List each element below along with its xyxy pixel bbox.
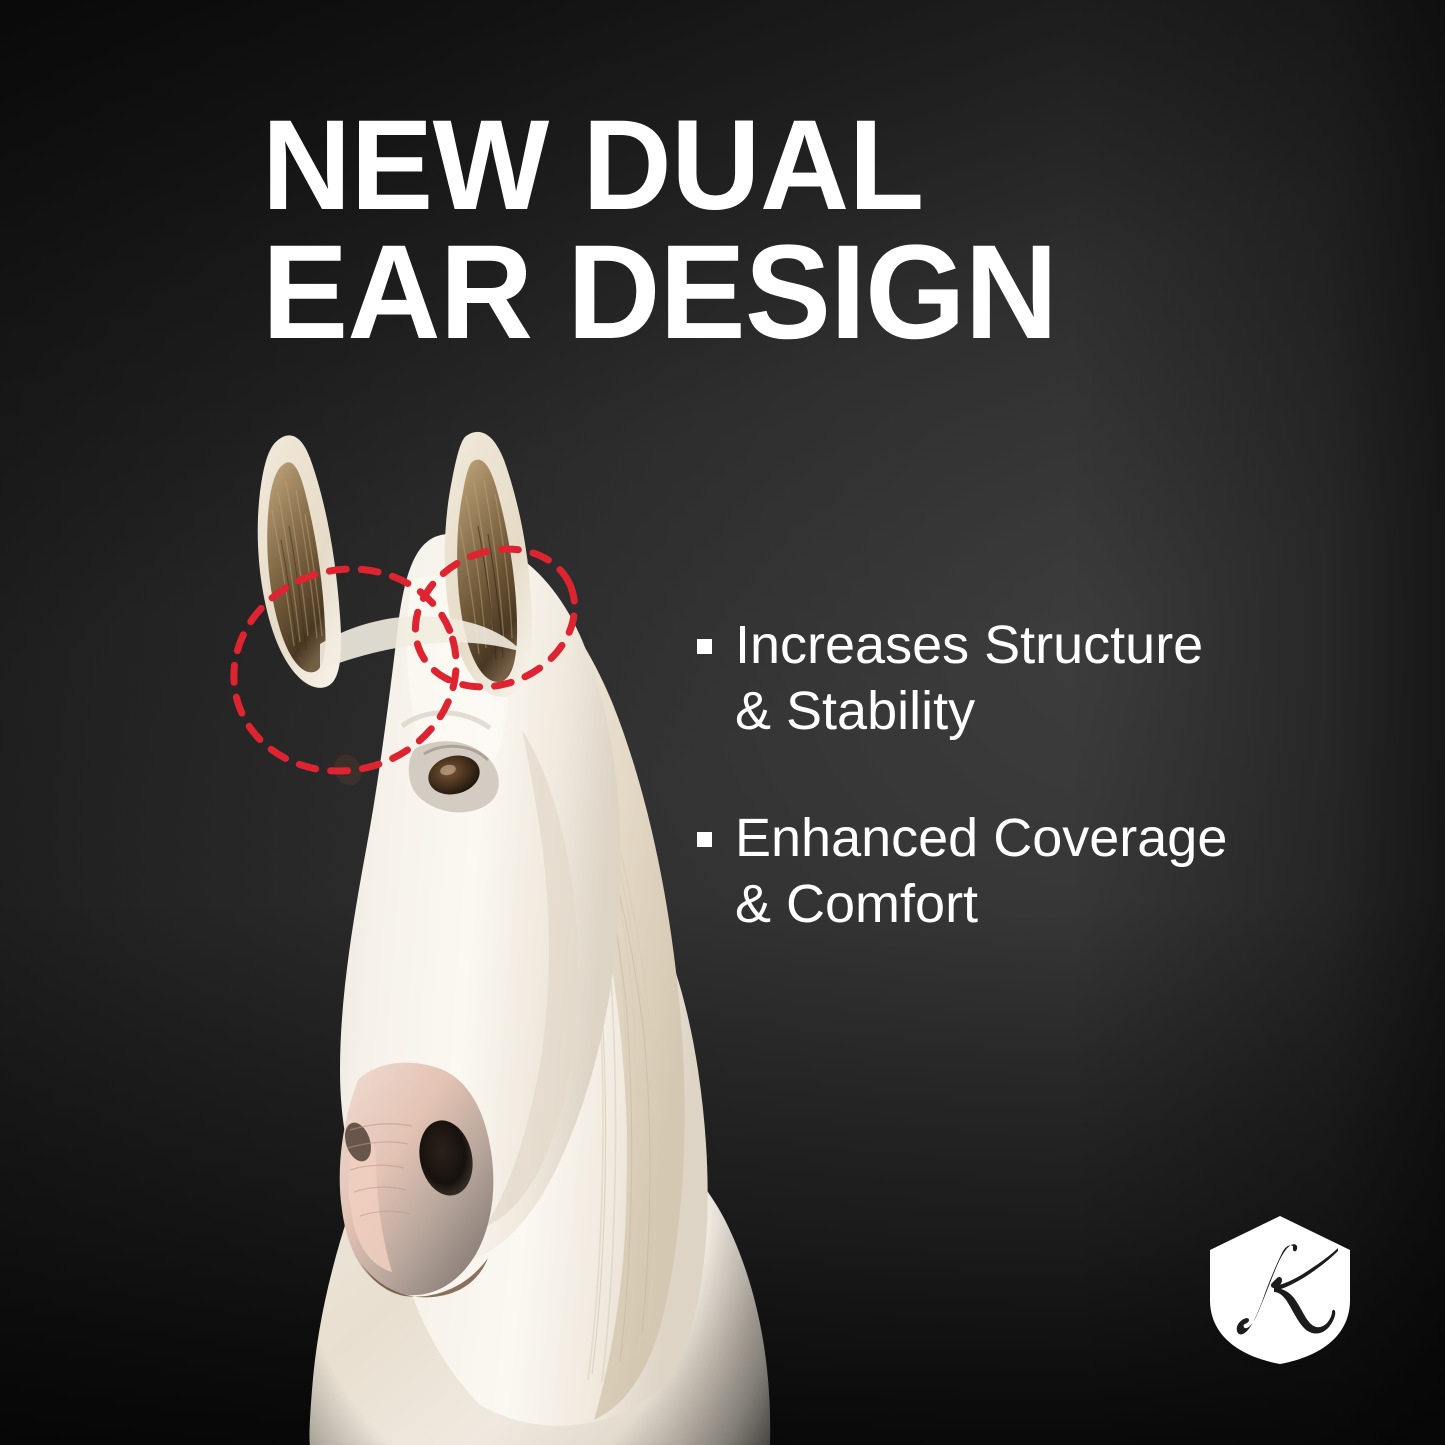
feature-text-2: Enhanced Coverage & Comfort xyxy=(735,805,1227,938)
feature-text-1: Increases Structure & Stability xyxy=(735,612,1203,745)
feature-text-2-line-2: & Comfort xyxy=(735,874,978,934)
feature-text-1-line-2: & Stability xyxy=(735,681,975,741)
brand-logo xyxy=(1205,1214,1355,1366)
feature-list: Increases Structure & Stability Enhanced… xyxy=(697,612,1357,938)
square-bullet-icon xyxy=(697,832,712,847)
feature-text-2-line-1: Enhanced Coverage xyxy=(735,808,1227,868)
square-bullet-icon xyxy=(697,639,712,654)
horse-muzzle xyxy=(340,1063,494,1298)
headline-line-2: EAR DESIGN xyxy=(262,228,1159,358)
promo-banner: NEW DUAL EAR DESIGN xyxy=(0,0,1445,1445)
headline-line-1: NEW DUAL xyxy=(262,104,1159,228)
list-item: Increases Structure & Stability xyxy=(697,612,1357,745)
list-item: Enhanced Coverage & Comfort xyxy=(697,805,1357,938)
headline: NEW DUAL EAR DESIGN xyxy=(262,104,1159,358)
feature-text-1-line-1: Increases Structure xyxy=(735,615,1203,675)
